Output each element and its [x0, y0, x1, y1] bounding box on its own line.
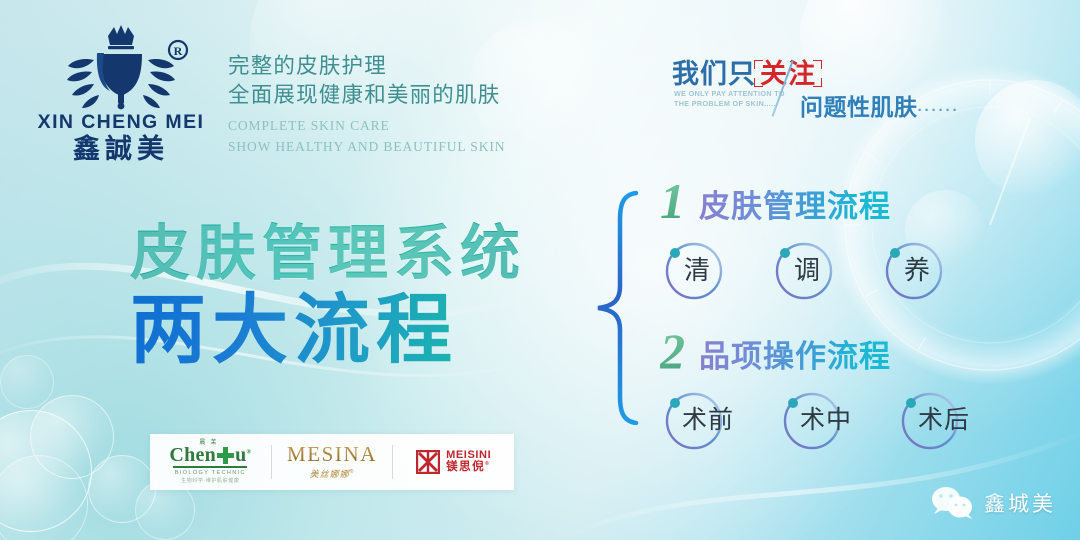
meisini-name-cn: 镁思倪® [446, 461, 491, 475]
meisini-cn-text: 镁思倪 [446, 461, 485, 473]
focus-prefix: 我们只 [672, 59, 756, 89]
bracket-corner-tl [754, 60, 763, 69]
mesina-registered-mark: ® [350, 469, 355, 475]
focus-subject-line: 问题性肌肤······ [800, 88, 959, 122]
meisini-text: MEISINI 镁思倪® [446, 449, 491, 475]
chentu-name-right: u [235, 444, 246, 466]
partner-logo-meisini: MEISINI 镁思倪® [393, 449, 514, 475]
green-cross-icon [217, 447, 234, 464]
focus-en-line1: WE ONLY PAY ATTENTION TO [674, 89, 785, 98]
step-item-ring[interactable]: 养 [880, 238, 954, 304]
curly-brace [592, 190, 646, 425]
chentu-rule [173, 466, 247, 468]
meisini-red-mark-icon [416, 450, 440, 474]
step-2-items: 术前 术中 术后 [660, 388, 1060, 454]
tagline-en-line1: COMPLETE SKIN CARE [228, 116, 558, 137]
step-1-header: 1 皮肤管理流程 [660, 168, 1060, 226]
molecule-bubble [0, 355, 54, 409]
mesina-wordmark: MESINA [287, 444, 377, 465]
focus-main-line: 我们只关注 [672, 52, 820, 91]
meisini-registered-mark: ® [485, 462, 490, 468]
mesina-cn-text: 美丝娜娜 [310, 469, 350, 479]
partner-logo-mesina: MESINA 美丝娜娜® [272, 444, 393, 480]
focus-headline: 我们只关注 WE ONLY PAY ATTENTION TOTHE PROBLE… [672, 52, 1012, 122]
step-item-ring[interactable]: 术后 [896, 388, 998, 454]
svg-text:R: R [174, 44, 183, 58]
step-item-label: 养 [904, 250, 931, 287]
bracket-corner-tr [813, 60, 822, 69]
step-2-title: 品项操作流程 [699, 340, 891, 376]
chentu-name-left: Chen [169, 444, 216, 466]
logo-chinese-name: 鑫誠美 [28, 133, 214, 167]
wechat-badge[interactable]: 鑫城美 [930, 486, 1056, 520]
wechat-icon [930, 486, 976, 520]
step-2-header: 2 品项操作流程 [660, 318, 1060, 376]
headline-line1: 皮肤管理系统 [130, 222, 526, 287]
step-item-ring[interactable]: 术前 [660, 388, 762, 454]
step-item-ring[interactable]: 调 [770, 238, 844, 304]
process-steps: 1 皮肤管理流程 清 调 养 2 [660, 168, 1060, 468]
focus-en-block: WE ONLY PAY ATTENTION TOTHE PROBLEM OF S… [674, 89, 785, 110]
step-1-title: 皮肤管理流程 [699, 190, 891, 226]
step-item-label: 调 [794, 250, 821, 287]
crown-tulip-laurel-emblem: R [28, 20, 214, 112]
process-step-2: 2 品项操作流程 术前 术中 术后 [660, 318, 1060, 468]
step-item-label: 术中 [800, 400, 852, 436]
chentu-registered-mark: ® [247, 449, 252, 455]
step-2-number: 2 [660, 326, 685, 376]
focus-dots: ······ [918, 102, 960, 119]
tagline-cn-line1: 完整的皮肤护理 [228, 52, 558, 81]
poster-canvas: R XIN CHENG MEI 鑫誠美 完整的皮肤护理 全面展现健康和美丽的肌肤… [0, 0, 1080, 540]
headline-line2: 两大流程 [130, 289, 526, 373]
meisini-name-en: MEISINI [446, 449, 491, 462]
tagline-cn-line2: 全面展现健康和美丽的肌肤 [228, 81, 558, 110]
meisini-row: MEISINI 镁思倪® [416, 449, 491, 475]
logo-english-name: XIN CHENG MEI [28, 113, 214, 133]
bracket-corner-bl [754, 78, 763, 87]
bracket-corner-br [813, 78, 822, 87]
wechat-account-name: 鑫城美 [984, 488, 1056, 518]
step-1-items: 清 调 养 [660, 238, 1060, 304]
partner-logo-bar: 晨苿 Chenu® BIOLOGY TECHNIC 生物科学·维护肌肤健康 ME… [150, 434, 514, 490]
step-item-ring[interactable]: 术中 [778, 388, 880, 454]
tagline-en-line2: SHOW HEALTHY AND BEAUTIFUL SKIN [228, 137, 558, 158]
page-title: 皮肤管理系统 两大流程 [130, 222, 526, 372]
step-1-number: 1 [660, 176, 685, 226]
chentu-wordmark: Chenu® [169, 445, 251, 465]
focus-subject: 问题性肌肤 [800, 94, 918, 120]
step-item-label: 术前 [682, 400, 734, 436]
focus-en-line2: THE PROBLEM OF SKIN...... [674, 99, 778, 108]
process-step-1: 1 皮肤管理流程 清 调 养 [660, 168, 1060, 318]
chentu-sub-en: BIOLOGY TECHNIC [175, 469, 246, 477]
tagline-block: 完整的皮肤护理 全面展现健康和美丽的肌肤 COMPLETE SKIN CARE … [228, 52, 558, 158]
step-item-ring[interactable]: 清 [660, 238, 734, 304]
chentu-sub-cn: 生物科学·维护肌肤健康 [181, 477, 239, 484]
brand-logo: R XIN CHENG MEI 鑫誠美 [28, 20, 214, 160]
mesina-chinese-name: 美丝娜娜® [310, 467, 355, 480]
step-item-label: 术后 [918, 400, 970, 436]
step-item-label: 清 [684, 250, 711, 287]
partner-logo-chentu: 晨苿 Chenu® BIOLOGY TECHNIC 生物科学·维护肌肤健康 [150, 440, 271, 484]
